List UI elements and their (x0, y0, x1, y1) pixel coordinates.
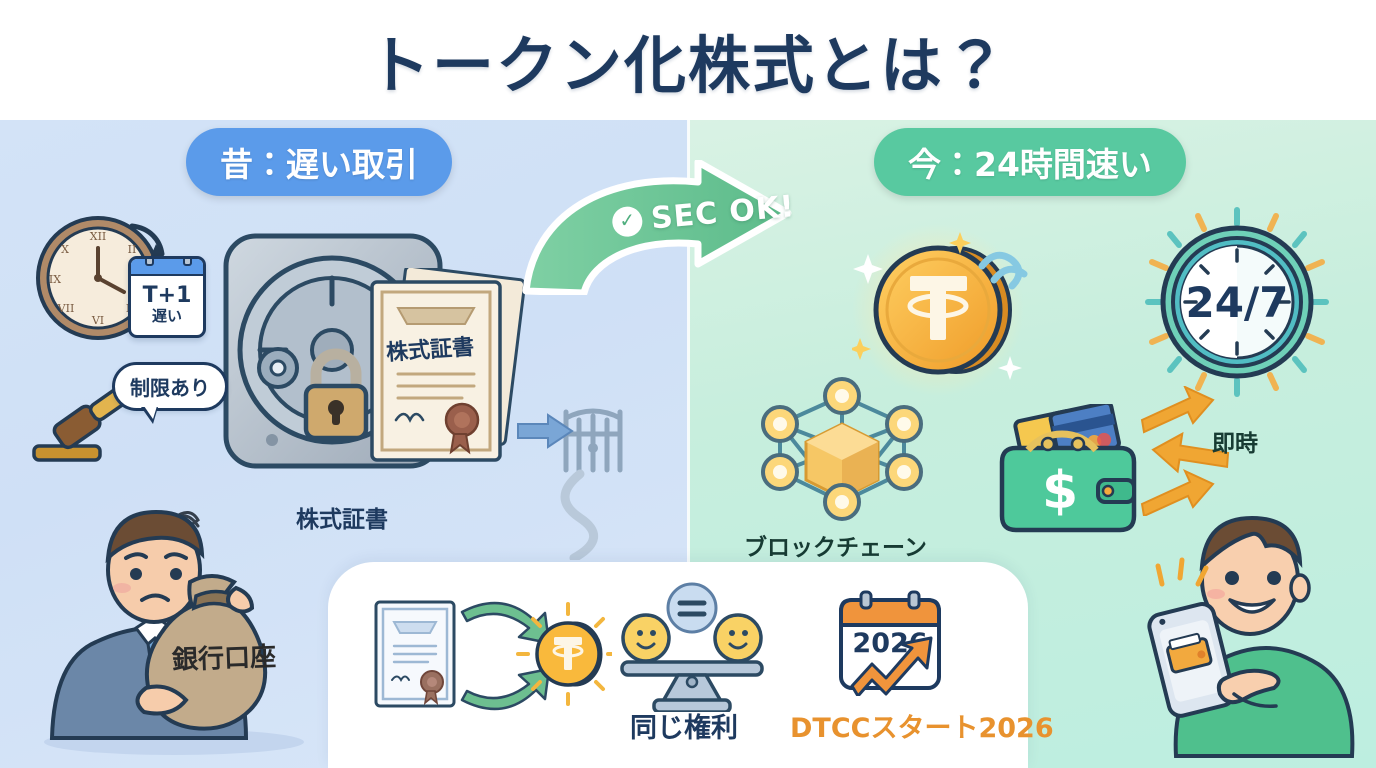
badge-new-system: 今：24時間速い (874, 128, 1186, 196)
page-title: トークン化株式とは？ (368, 15, 1008, 105)
calendar-2026-trend-icon: 2026 (828, 590, 952, 696)
calendar-t1-value: T+1 (143, 285, 192, 307)
token-coin-icon (852, 222, 1032, 398)
restriction-speech-bubble: 制限あり (112, 362, 228, 411)
certificate-to-token-conversion-icon (362, 588, 612, 718)
calendar-t-plus-1: T+1 遅い (128, 256, 206, 338)
svg-text:XII: XII (90, 230, 107, 243)
frustrated-businessman-illustration (24, 492, 314, 760)
badge-old-system: 昔：遅い取引 (186, 128, 452, 196)
dtcc-launch-label: DTCCスタート2026 (790, 706, 1054, 745)
vault-label: 株式証書 (296, 500, 388, 534)
stock-certificate-icon (358, 268, 530, 468)
instant-label: 即時 (1212, 424, 1258, 458)
clock-24-7-text: 24/7 (1185, 278, 1288, 327)
svg-text:II: II (128, 243, 137, 256)
svg-text:IX: IX (49, 273, 61, 286)
blockchain-label: ブロックチェーン (744, 528, 927, 562)
svg-text:VI: VI (91, 314, 104, 327)
wallet-dollar-symbol: $ (1042, 461, 1078, 521)
calendar-t1-note: 遅い (152, 307, 182, 327)
money-bag-label: 銀行口座 (171, 636, 276, 677)
sec-ok-arrow-icon (520, 160, 850, 295)
svg-text:X: X (61, 243, 69, 256)
svg-text:VII: VII (57, 302, 75, 315)
blockchain-network-icon (752, 376, 932, 524)
certificate-title: 株式証書 (385, 329, 475, 367)
happy-person-illustration (1128, 500, 1368, 762)
infographic-canvas: トークン化株式とは？ 昔：遅い取引 今：24時間速い ✓ SEC OK! XII… (0, 0, 1376, 768)
same-rights-label: 同じ権利 (630, 706, 738, 745)
title-bar: トークン化株式とは？ (0, 0, 1376, 120)
equal-rights-scale-icon (612, 582, 772, 712)
clock-24-7-icon: 24/7 (1136, 204, 1338, 400)
